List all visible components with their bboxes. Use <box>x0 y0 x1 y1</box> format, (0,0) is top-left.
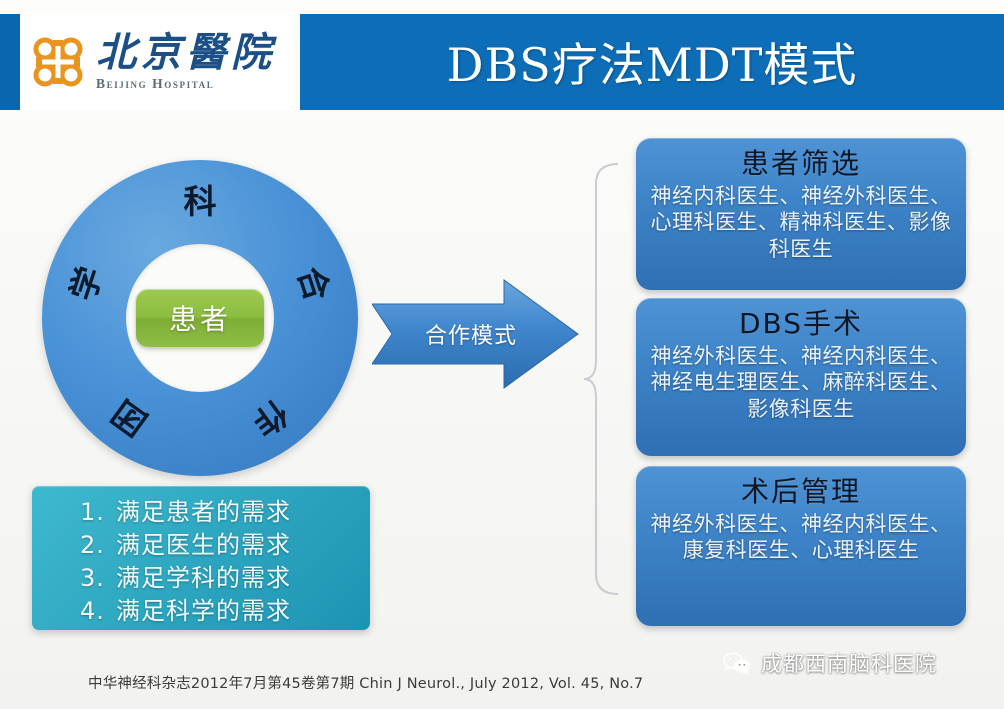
wechat-icon <box>722 651 752 675</box>
source-citation: 中华神经科杂志2012年7月第45卷第7期 Chin J Neurol., Ju… <box>88 672 643 693</box>
list-item: 2. 满足医生的需求 <box>80 529 370 562</box>
stage-card-dbs-surgery[interactable]: DBS手术 神经外科医生、神经内科医生、神经电生理医生、麻醉科医生、影像科医生 <box>636 298 966 456</box>
logo-wordmark: 北京醫院 Beijing Hospital <box>96 33 276 91</box>
goal-number: 2. <box>80 529 106 562</box>
watermark: 成都西南脑科医院 <box>722 648 937 678</box>
goal-number: 1. <box>80 496 106 529</box>
beijing-hospital-emblem-icon <box>28 32 88 92</box>
stage-title: 术后管理 <box>646 474 956 509</box>
stage-title: DBS手术 <box>646 306 956 341</box>
goal-number: 4. <box>80 595 106 628</box>
stage-card-patient-screening[interactable]: 患者筛选 神经内科医生、神经外科医生、心理科医生、精神科医生、影像科医生 <box>636 138 966 290</box>
mdt-team-circle: 科 合 作 团 学 患者 <box>42 160 358 476</box>
stage-card-postoperative-management[interactable]: 术后管理 神经外科医生、神经内科医生、康复科医生、心理科医生 <box>636 466 966 626</box>
goal-text: 满足医生的需求 <box>116 529 291 562</box>
cooperation-arrow: 合作模式 <box>372 278 580 390</box>
goals-panel: 1. 满足患者的需求 2. 满足医生的需求 3. 满足学科的需求 4. 满足科学… <box>32 486 370 630</box>
goals-list: 1. 满足患者的需求 2. 满足医生的需求 3. 满足学科的需求 4. 满足科学… <box>32 496 370 628</box>
stage-title: 患者筛选 <box>646 146 956 181</box>
slide-canvas: 北京醫院 Beijing Hospital DBS疗法MDT模式 科 合 作 团… <box>0 0 1004 709</box>
title-banner: DBS疗法MDT模式 <box>300 14 1004 110</box>
hospital-logo: 北京醫院 Beijing Hospital <box>20 14 295 110</box>
slide-header: 北京醫院 Beijing Hospital DBS疗法MDT模式 <box>0 14 1004 110</box>
list-item: 4. 满足科学的需求 <box>80 595 370 628</box>
ring-char-top: 科 <box>180 175 220 223</box>
logo-chinese-name: 北京醫院 <box>96 33 276 73</box>
stage-bracket <box>580 160 638 598</box>
header-left-accent-bar <box>0 14 20 110</box>
goal-text: 满足科学的需求 <box>116 595 291 628</box>
page-title: DBS疗法MDT模式 <box>447 29 858 95</box>
list-item: 3. 满足学科的需求 <box>80 562 370 595</box>
goal-text: 满足学科的需求 <box>116 562 291 595</box>
center-patient-pill: 患者 <box>136 289 264 347</box>
stage-body: 神经外科医生、神经内科医生、神经电生理医生、麻醉科医生、影像科医生 <box>646 343 956 422</box>
stage-body: 神经外科医生、神经内科医生、康复科医生、心理科医生 <box>646 511 956 564</box>
goal-text: 满足患者的需求 <box>116 496 291 529</box>
stage-body: 神经内科医生、神经外科医生、心理科医生、精神科医生、影像科医生 <box>646 183 956 262</box>
goal-number: 3. <box>80 562 106 595</box>
watermark-label: 成都西南脑科医院 <box>761 648 937 678</box>
center-patient-label: 患者 <box>169 298 231 338</box>
list-item: 1. 满足患者的需求 <box>80 496 370 529</box>
logo-english-name: Beijing Hospital <box>96 77 276 91</box>
